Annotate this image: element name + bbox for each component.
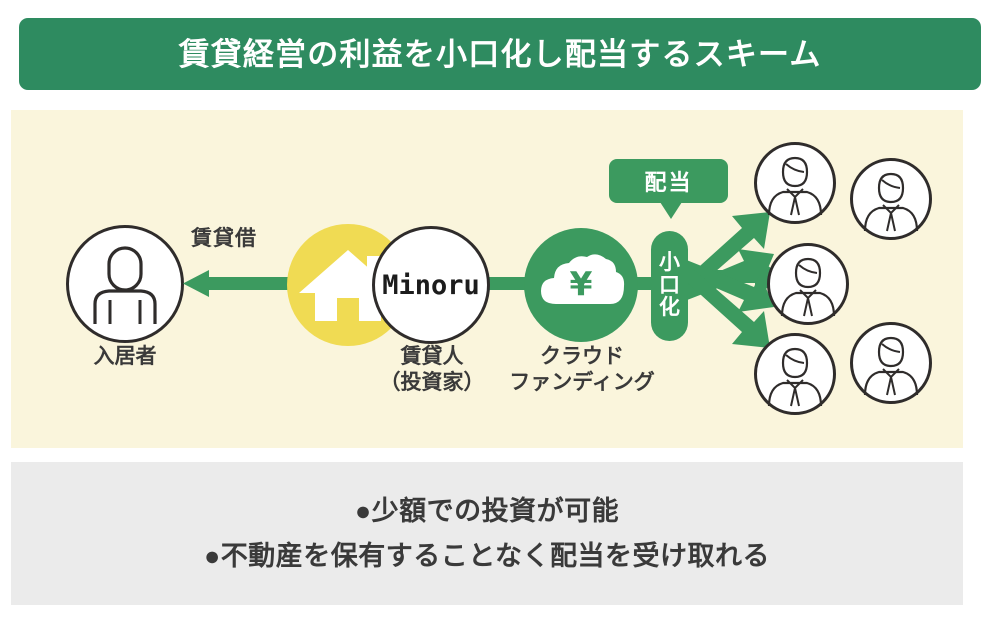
notes-panel: ●少額での投資が可能 ●不動産を保有することなく配当を受け取れる (11, 462, 963, 605)
node-tenant-label: 入居者 (64, 344, 186, 370)
investor-person-tie-icon (853, 325, 929, 401)
node-crowdfunding: ¥ (524, 228, 638, 342)
note-line-2: ●不動産を保有することなく配当を受け取れる (204, 543, 770, 570)
person-icon (69, 228, 181, 340)
investor-circle-5 (850, 322, 932, 404)
node-crowdfunding-label-line2: ファンディング (492, 370, 672, 396)
cloud-yen-icon: ¥ (524, 228, 638, 342)
node-landlord-label: 賃貸人 （投資家） (362, 344, 502, 395)
infographic-canvas: 賃貸経営の利益を小口化し配当するスキーム 賃貸借 入居者 Minoru 賃貸人 … (0, 0, 1000, 629)
investor-circle-4 (754, 333, 836, 415)
investor-person-tie-icon (757, 336, 833, 412)
node-landlord-label-line1: 賃貸人 (362, 344, 502, 370)
svg-text:¥: ¥ (570, 264, 593, 303)
node-crowdfunding-label-line1: クラウド (492, 344, 672, 370)
node-landlord-brand: Minoru (372, 226, 490, 344)
dividend-bubble: 配当 (609, 159, 728, 203)
title-banner: 賃貸経営の利益を小口化し配当するスキーム (19, 18, 981, 90)
investor-person-tie-icon (757, 145, 833, 221)
node-tenant (66, 225, 184, 343)
node-crowdfunding-label: クラウド ファンディング (492, 344, 672, 395)
investor-person-tie-icon (770, 246, 846, 322)
investor-circle-1 (754, 142, 836, 224)
dividend-bubble-tail (660, 202, 682, 219)
note-line-1: ●少額での投資が可能 (355, 498, 619, 525)
brand-label: Minoru (375, 229, 487, 341)
node-fractionalize: 小 口 化 (651, 231, 688, 341)
investor-circle-3 (767, 243, 849, 325)
investor-person-tie-icon (853, 161, 929, 237)
fractionalize-char-3: 化 (659, 297, 680, 320)
investor-circle-2 (850, 158, 932, 240)
dividend-label: 配当 (644, 165, 692, 197)
node-landlord-label-line2: （投資家） (362, 370, 502, 396)
fractionalize-char-1: 小 (659, 252, 680, 275)
lease-label: 賃貸借 (191, 222, 257, 252)
fractionalize-char-2: 口 (659, 275, 680, 298)
page-title: 賃貸経営の利益を小口化し配当するスキーム (178, 39, 821, 70)
